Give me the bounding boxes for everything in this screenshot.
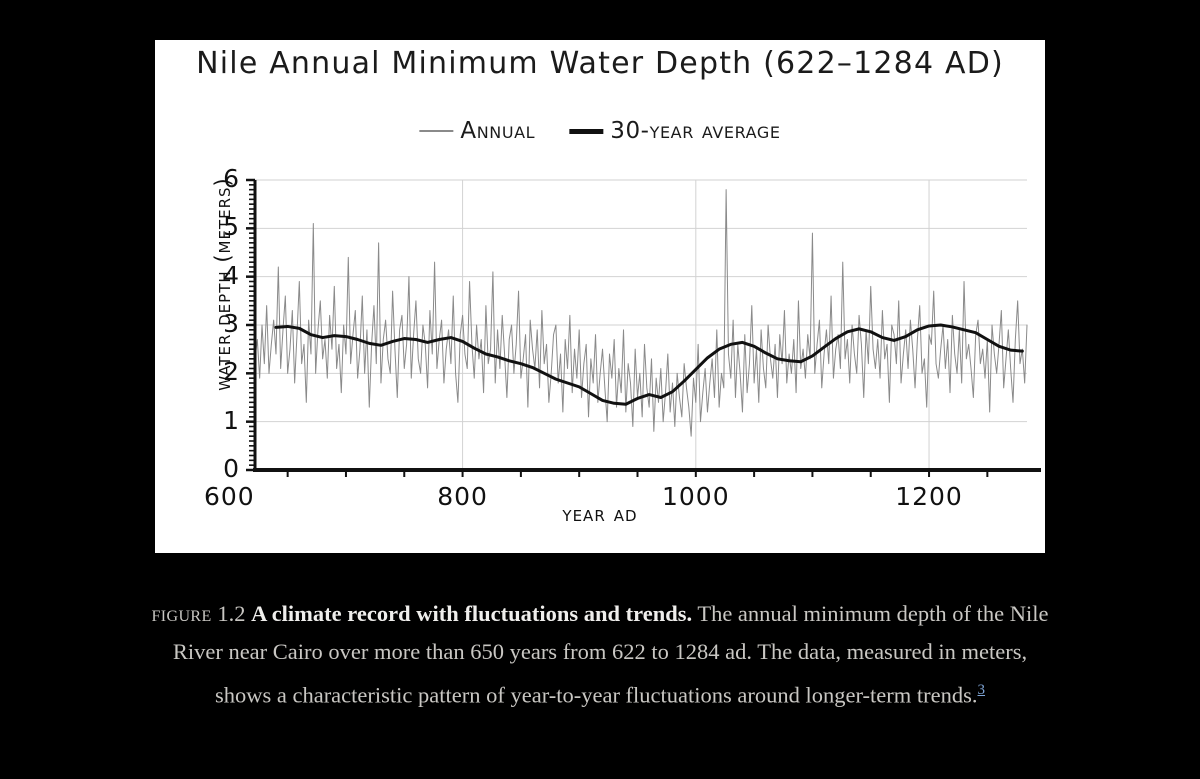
y-tick-label: 5 — [199, 212, 239, 241]
x-tick-label: 1000 — [641, 482, 751, 511]
caption-number: 1.2 — [217, 601, 245, 626]
y-tick-label: 1 — [199, 406, 239, 435]
x-tick-label: 600 — [174, 482, 284, 511]
caption-bold-lead: A climate record with fluctuations and t… — [251, 601, 692, 626]
y-tick-label: 2 — [199, 357, 239, 386]
y-tick-label: 3 — [199, 309, 239, 338]
chart-panel: Nile Annual Minimum Water Depth (622–128… — [155, 40, 1045, 553]
y-tick-label: 4 — [199, 261, 239, 290]
caption-figure-word: Figure — [152, 601, 212, 626]
y-tick-label: 0 — [199, 454, 239, 483]
figure-caption: Figure 1.2 A climate record with fluctua… — [150, 595, 1050, 715]
plot-area — [155, 40, 1045, 553]
x-tick-label: 1200 — [874, 482, 984, 511]
footnote-link-3[interactable]: 3 — [978, 682, 986, 698]
x-tick-label: 800 — [408, 482, 518, 511]
figure-page: Nile Annual Minimum Water Depth (622–128… — [0, 0, 1200, 779]
y-tick-label: 6 — [199, 164, 239, 193]
